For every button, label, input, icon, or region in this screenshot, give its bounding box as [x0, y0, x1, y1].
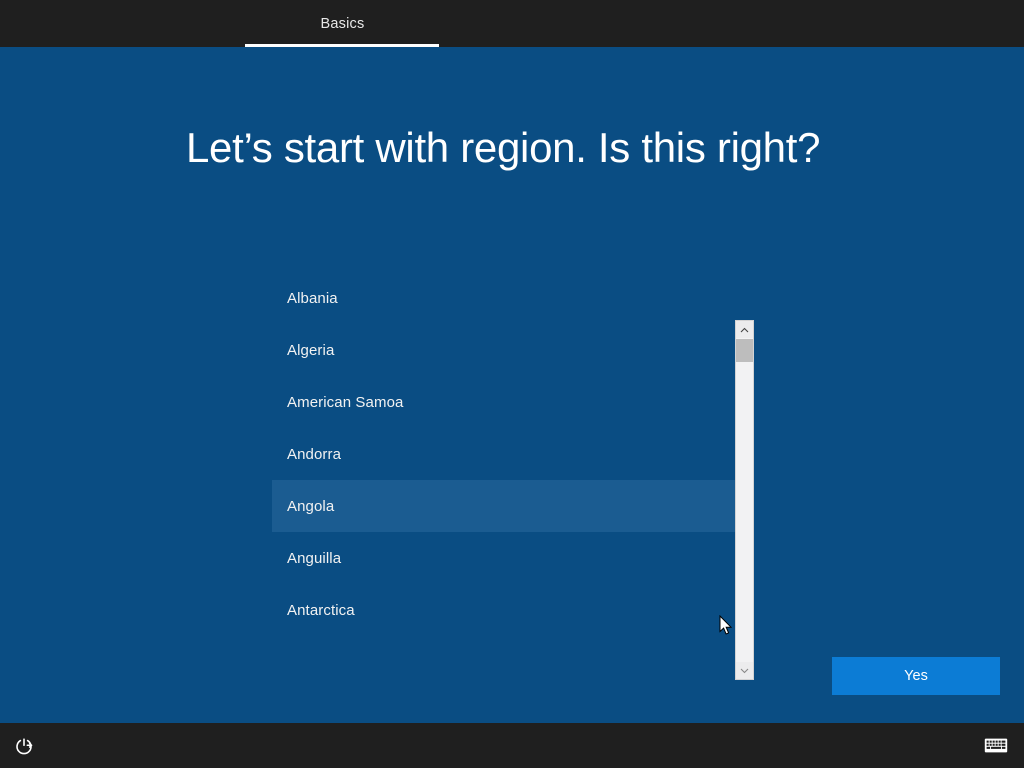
- oobe-taskbar: [0, 723, 1024, 768]
- list-item-label: American Samoa: [287, 394, 403, 411]
- keyboard-icon: [984, 737, 1008, 754]
- list-item-label: Andorra: [287, 446, 341, 463]
- list-item-label: Angola: [287, 498, 334, 515]
- region-list-scrollbar[interactable]: [735, 320, 754, 680]
- power-button[interactable]: [4, 723, 44, 768]
- list-item[interactable]: Antarctica: [272, 584, 738, 633]
- tab-basics[interactable]: Basics: [245, 0, 440, 47]
- region-list[interactable]: Albania Algeria American Samoa Andorra A…: [272, 272, 738, 633]
- power-icon: [14, 736, 34, 756]
- list-item[interactable]: Andorra: [272, 428, 738, 480]
- list-item[interactable]: Algeria: [272, 324, 738, 376]
- tab-strip: Basics: [0, 0, 1024, 47]
- list-item-label: Algeria: [287, 342, 334, 359]
- list-item[interactable]: Anguilla: [272, 532, 738, 584]
- scroll-down-button[interactable]: [736, 662, 753, 679]
- list-item-selected[interactable]: Angola: [272, 480, 738, 532]
- scrollbar-track[interactable]: [736, 338, 753, 662]
- setup-stage: Let’s start with region. Is this right? …: [0, 47, 1024, 723]
- list-item-label: Anguilla: [287, 550, 341, 567]
- keyboard-button[interactable]: [976, 723, 1016, 768]
- yes-button[interactable]: Yes: [832, 657, 1000, 695]
- list-item-label: Albania: [287, 290, 338, 307]
- chevron-up-icon: [740, 327, 749, 333]
- list-item[interactable]: Albania: [272, 272, 738, 324]
- page-title: Let’s start with region. Is this right?: [186, 124, 946, 172]
- list-item-label: Antarctica: [287, 602, 355, 619]
- scrollbar-thumb[interactable]: [736, 339, 753, 362]
- scroll-up-button[interactable]: [736, 321, 753, 338]
- list-item[interactable]: American Samoa: [272, 376, 738, 428]
- chevron-down-icon: [740, 668, 749, 674]
- tab-basics-label: Basics: [321, 16, 365, 32]
